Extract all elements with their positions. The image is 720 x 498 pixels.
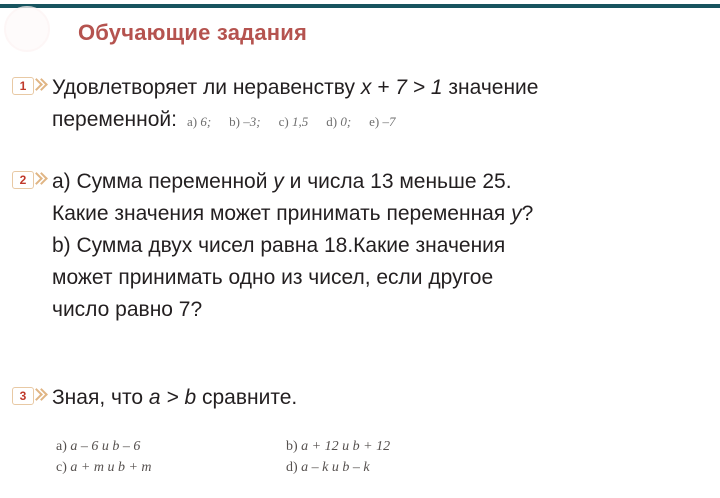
task-text-pre: Зная, что	[52, 386, 149, 409]
option-label: e)	[369, 114, 379, 129]
options-row: a) a – 6 и b – 6 b) a + 12 и b + 12	[56, 436, 516, 457]
task-text-pre: Удовлетворяет ли неравенству	[52, 76, 361, 99]
task-text-post: сравните.	[196, 386, 297, 409]
task-text: a) Сумма переменной y и числа 13 меньше …	[52, 166, 712, 326]
answer-option: a) 6;	[187, 106, 211, 138]
task-math-expression: a > b	[149, 386, 196, 409]
options-row: c) a + m и b + m d) a – k и b – k	[56, 457, 516, 478]
task-text-line2: переменной:	[52, 108, 177, 131]
answer-option: e) –7	[369, 106, 395, 138]
chevron-right-icon	[32, 388, 41, 404]
task-body: Зная, что a > b сравните.	[52, 382, 712, 414]
task-text-pre: Какие значения может принимать переменна…	[52, 202, 511, 225]
task-text: Зная, что a > b сравните.	[52, 382, 712, 414]
answer-option: d) 0;	[326, 106, 351, 138]
chevron-right-icon	[32, 172, 41, 188]
task-text: Удовлетворяет ли неравенству x + 7 > 1 з…	[52, 72, 712, 138]
answer-option: d) a – k и b – k	[286, 457, 516, 478]
task-marker-2: 2	[12, 171, 52, 191]
answer-options-inline: a) 6;b) –3;c) 1,5d) 0;e) –7	[177, 114, 396, 129]
option-expression: a – k и b – k	[301, 460, 369, 475]
option-label: a)	[56, 439, 67, 454]
answer-option: b) a + 12 и b + 12	[286, 436, 516, 457]
option-value: –3;	[243, 114, 260, 129]
answer-option: b) –3;	[229, 106, 260, 138]
option-label: a)	[187, 114, 197, 129]
decorative-watermark	[4, 6, 50, 52]
task-marker-3: 3	[12, 387, 52, 407]
option-value: –7	[383, 114, 396, 129]
answer-options-grid: a) a – 6 и b – 6 b) a + 12 и b + 12 c) a…	[56, 436, 516, 478]
task-math-expression: x + 7 > 1	[361, 76, 443, 99]
task-text-line3: b) Сумма двух чисел равна 18.Какие значе…	[52, 234, 505, 257]
page-title: Обучающие задания	[78, 20, 307, 46]
task-text-line5: число равно 7?	[52, 298, 202, 321]
option-label: b)	[286, 439, 298, 454]
task-text-post: и числа 13 меньше 25.	[284, 170, 512, 193]
top-rule-divider	[0, 4, 720, 8]
answer-option: c) a + m и b + m	[56, 457, 286, 478]
option-expression: a + 12 и b + 12	[301, 439, 390, 454]
answer-option: a) a – 6 и b – 6	[56, 436, 286, 457]
slide: Обучающие задания 1 Удовлетворяет ли нер…	[0, 0, 720, 498]
option-value: 6;	[200, 114, 211, 129]
task-math-variable: y	[273, 170, 284, 193]
option-label: c)	[279, 114, 289, 129]
task-text-line4: может принимать одно из чисел, если друг…	[52, 266, 493, 289]
option-label: c)	[56, 460, 67, 475]
task-body: a) Сумма переменной y и числа 13 меньше …	[52, 166, 712, 326]
option-value: 1,5	[292, 114, 308, 129]
answer-option: c) 1,5	[279, 106, 309, 138]
option-value: 0;	[340, 114, 351, 129]
task-text-pre: a) Сумма переменной	[52, 170, 273, 193]
task-math-variable: y	[511, 202, 522, 225]
task-marker-1: 1	[12, 77, 52, 97]
option-label: b)	[229, 114, 240, 129]
option-expression: a + m и b + m	[70, 460, 151, 475]
task-item-1: 1 Удовлетворяет ли неравенству x + 7 > 1…	[12, 72, 712, 138]
task-text-post: ?	[522, 202, 534, 225]
task-item-2: 2 a) Сумма переменной y и числа 13 меньш…	[12, 166, 712, 326]
task-text-post: значение	[443, 76, 539, 99]
chevron-right-icon	[32, 78, 41, 94]
task-body: Удовлетворяет ли неравенству x + 7 > 1 з…	[52, 72, 712, 138]
task-item-3: 3 Зная, что a > b сравните.	[12, 382, 712, 414]
option-expression: a – 6 и b – 6	[70, 439, 140, 454]
option-label: d)	[326, 114, 337, 129]
option-label: d)	[286, 460, 298, 475]
